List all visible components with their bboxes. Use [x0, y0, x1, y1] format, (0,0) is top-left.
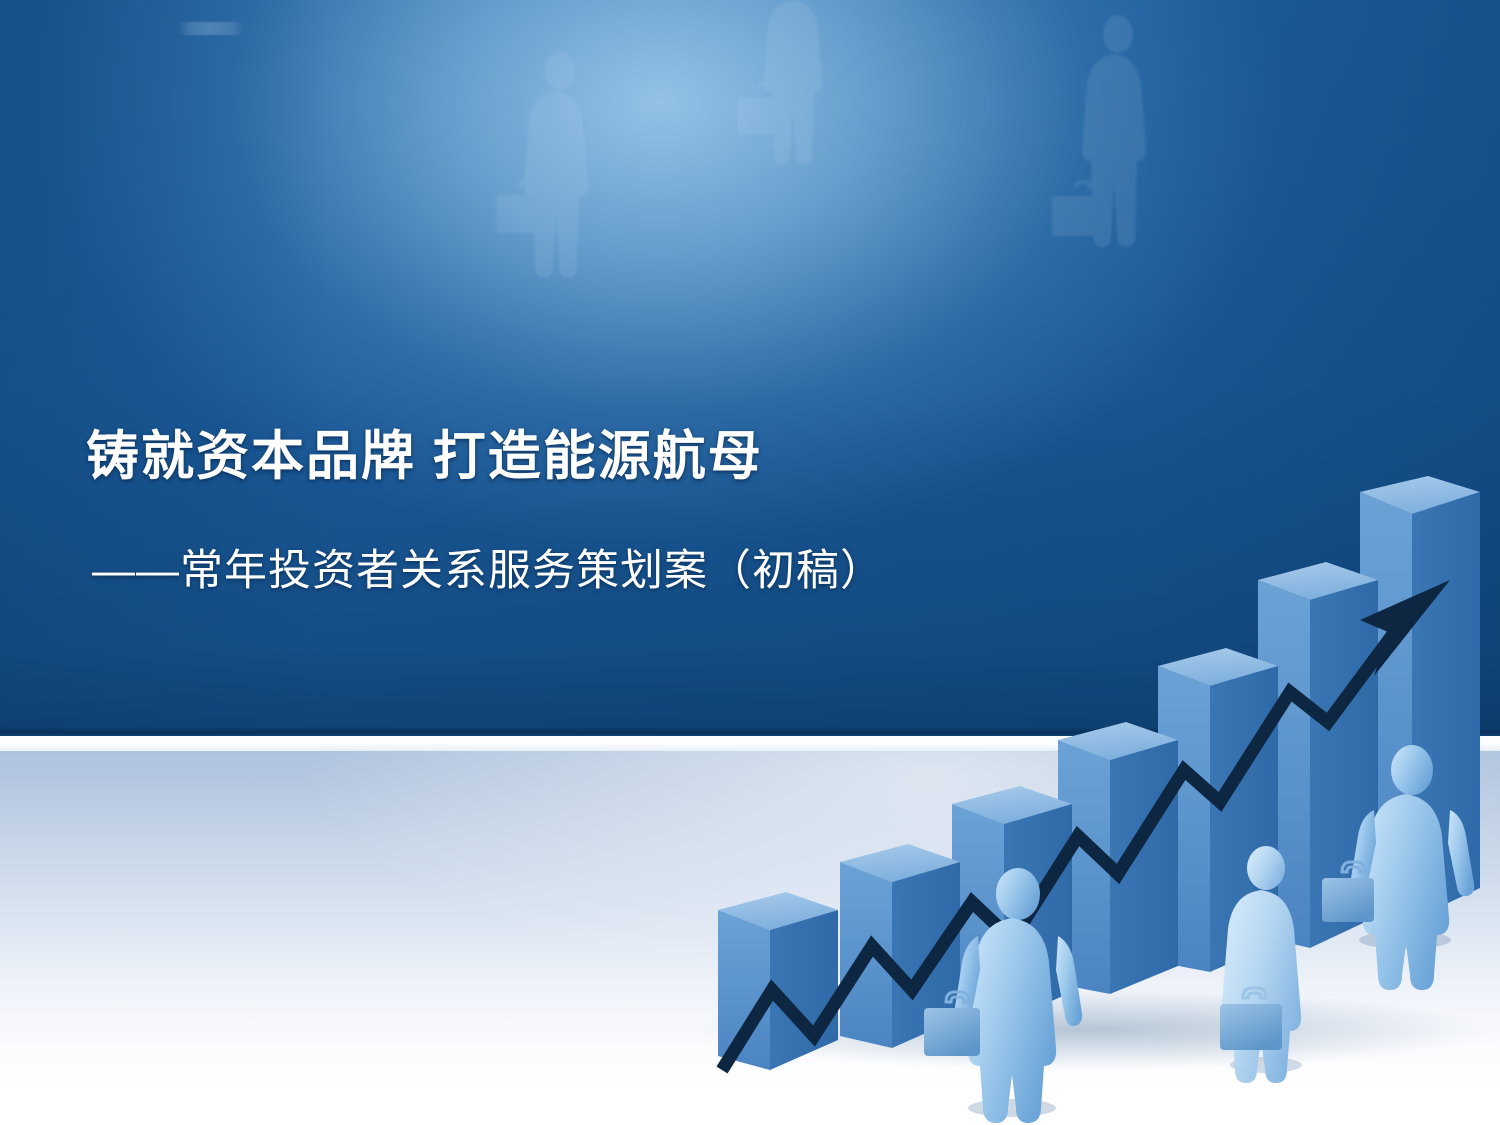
presentation-slide: 铸就资本品牌 打造能源航母 ——常年投资者关系服务策划案（初稿） [0, 0, 1500, 1125]
page-title: 铸就资本品牌 打造能源航母 [86, 414, 763, 490]
page-subtitle: ——常年投资者关系服务策划案（初稿） [92, 536, 884, 598]
title-block: 铸就资本品牌 打造能源航母 ——常年投资者关系服务策划案（初稿） [0, 0, 1500, 737]
floor-surface [0, 751, 1500, 1125]
